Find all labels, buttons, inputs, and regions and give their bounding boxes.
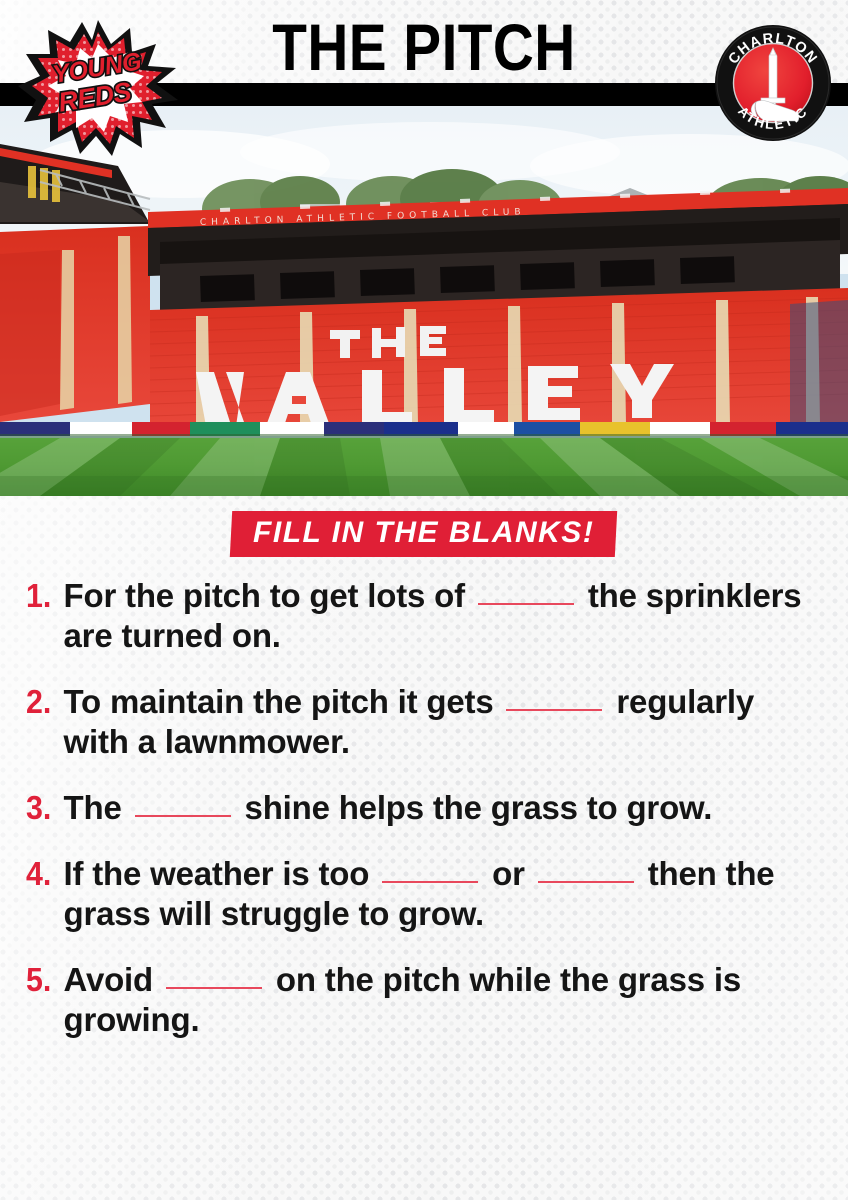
questions-list: 1.For the pitch to get lots of the sprin… <box>26 576 826 1066</box>
question-item: 5.Avoid on the pitch while the grass is … <box>26 960 826 1040</box>
question-number: 5. <box>26 960 61 1000</box>
fill-in-the-blanks-banner-wrap: FILL IN THE BLANKS! <box>0 511 848 557</box>
question-text: Avoid on the pitch while the grass is gr… <box>64 960 826 1040</box>
fill-in-the-blanks-banner: FILL IN THE BLANKS! <box>230 511 618 557</box>
question-item: 4.If the weather is too or then the gras… <box>26 854 826 934</box>
stadium-photo: CHARLTON ATHLETIC FOOTBALL CLUB <box>0 104 848 496</box>
charlton-crest-icon: CHARLTON ATHLETIC <box>714 24 832 142</box>
young-reds-logo: YOUNG REDS <box>18 18 178 158</box>
question-text: The shine helps the grass to grow. <box>64 788 826 828</box>
question-text: To maintain the pitch it gets regularly … <box>64 682 826 762</box>
answer-blank[interactable] <box>382 855 478 883</box>
question-item: 1.For the pitch to get lots of the sprin… <box>26 576 826 656</box>
answer-blank[interactable] <box>166 961 262 989</box>
charlton-athletic-crest: CHARLTON ATHLETIC <box>714 24 832 142</box>
question-text-segment: For the pitch to get lots of <box>64 577 474 614</box>
banner-label: FILL IN THE BLANKS! <box>253 517 594 549</box>
answer-blank[interactable] <box>135 789 231 817</box>
question-text: If the weather is too or then the grass … <box>64 854 826 934</box>
activity-sheet-page: CHARLTON ATHLETIC FOOTBALL CLUB <box>0 0 848 1200</box>
question-text-segment: If the weather is too <box>64 855 379 892</box>
young-reds-starburst-icon: YOUNG REDS <box>18 18 178 158</box>
question-item: 2.To maintain the pitch it gets regularl… <box>26 682 826 762</box>
question-number: 2. <box>26 682 61 722</box>
question-number: 1. <box>26 576 61 616</box>
answer-blank[interactable] <box>506 683 602 711</box>
answer-blank[interactable] <box>478 577 574 605</box>
question-text: For the pitch to get lots of the sprinkl… <box>64 576 826 656</box>
answer-blank[interactable] <box>538 855 634 883</box>
question-text-segment: Avoid <box>64 961 162 998</box>
page-header: THE PITCH YOUNG <box>0 0 848 120</box>
question-text-segment: To maintain the pitch it gets <box>64 683 503 720</box>
question-text-segment: The <box>64 789 131 826</box>
question-text-segment: or <box>483 855 534 892</box>
question-item: 3.The shine helps the grass to grow. <box>26 788 826 828</box>
question-number: 3. <box>26 788 61 828</box>
stadium-illustration: CHARLTON ATHLETIC FOOTBALL CLUB <box>0 104 848 496</box>
worksheet-section: FILL IN THE BLANKS! 1.For the pitch to g… <box>0 496 848 1200</box>
question-text-segment: shine helps the grass to grow. <box>236 789 713 826</box>
question-number: 4. <box>26 854 61 894</box>
